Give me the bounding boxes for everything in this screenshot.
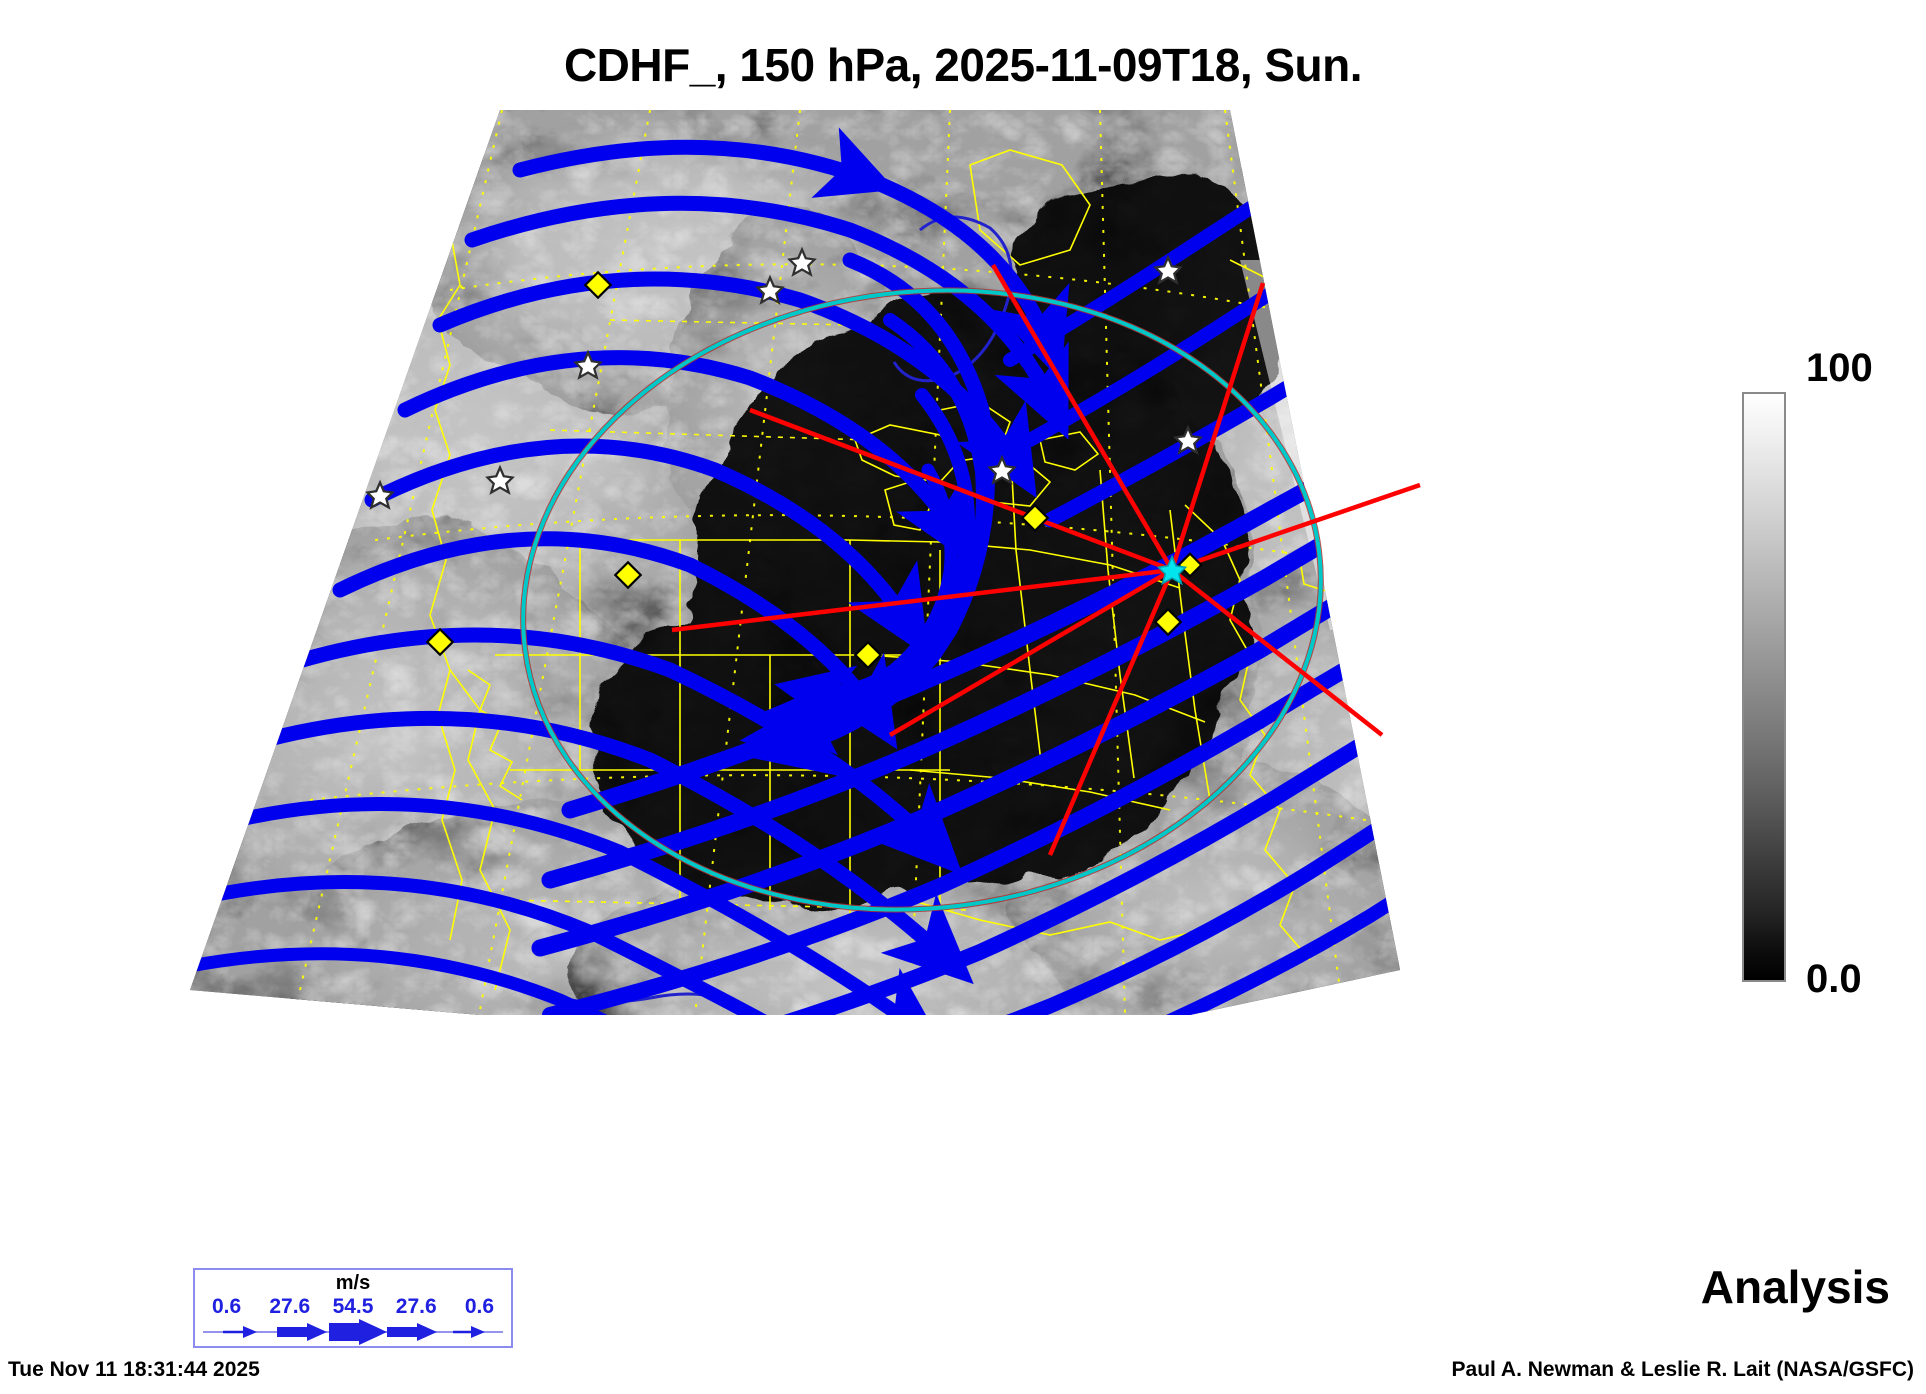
colorbar-gradient xyxy=(1742,392,1786,982)
wind-legend-value: 54.5 xyxy=(321,1295,384,1319)
wind-legend-values: 0.6 27.6 54.5 27.6 0.6 xyxy=(195,1295,511,1319)
analysis-mode-label: Analysis xyxy=(1701,1260,1890,1314)
wind-legend-value: 0.6 xyxy=(448,1295,511,1319)
colorbar: 100 0.0 xyxy=(1742,392,1922,982)
map-canvas[interactable] xyxy=(150,110,1570,1030)
wind-speed-legend: m/s 0.6 27.6 54.5 27.6 0.6 xyxy=(193,1268,513,1348)
map-panel[interactable] xyxy=(150,110,1570,1030)
wind-legend-arrow-scale xyxy=(195,1318,511,1346)
footer-credit: Paul A. Newman & Leslie R. Lait (NASA/GS… xyxy=(1452,1358,1914,1382)
wind-legend-value: 27.6 xyxy=(385,1295,448,1319)
wind-legend-value: 0.6 xyxy=(195,1295,258,1319)
colorbar-max-label: 100 xyxy=(1806,346,1873,391)
page-title: CDHF_, 150 hPa, 2025-11-09T18, Sun. xyxy=(0,38,1926,92)
figure-root: CDHF_, 150 hPa, 2025-11-09T18, Sun. xyxy=(0,0,1926,1394)
footer-timestamp: Tue Nov 11 18:31:44 2025 xyxy=(8,1358,260,1382)
colorbar-min-label: 0.0 xyxy=(1806,957,1862,1002)
wind-legend-value: 27.6 xyxy=(258,1295,321,1319)
wind-legend-unit-label: m/s xyxy=(195,1272,511,1295)
